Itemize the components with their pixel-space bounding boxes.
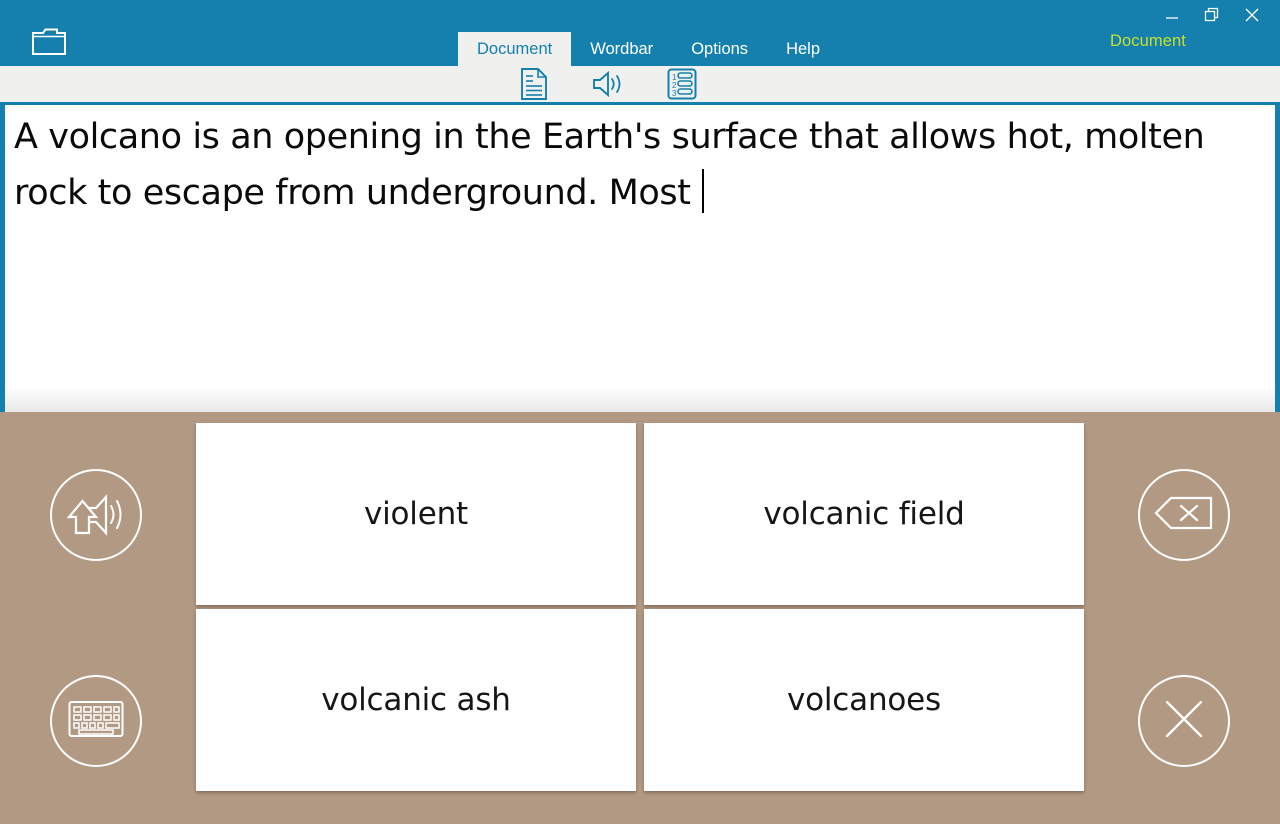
open-file-button[interactable] <box>26 27 72 59</box>
document-icon <box>519 67 549 101</box>
backspace-icon <box>1154 496 1214 535</box>
speaker-icon <box>591 69 625 99</box>
toolbar: 1 2 3 <box>0 66 1280 105</box>
tab-bar: Document Wordbar Options Help <box>458 32 839 66</box>
close-button[interactable] <box>1232 2 1272 32</box>
minimize-button[interactable] <box>1152 2 1192 32</box>
restore-button[interactable] <box>1192 2 1232 32</box>
document-title-label: Document <box>1110 32 1186 51</box>
numbered-list-button[interactable]: 1 2 3 <box>645 66 719 102</box>
editor-text: A volcano is an opening in the Earth's s… <box>14 109 1214 221</box>
numbered-list-icon: 1 2 3 <box>666 67 698 101</box>
tab-document[interactable]: Document <box>458 32 571 66</box>
word-suggestion-grid: violent volcanic field volcanic ash volc… <box>196 423 1084 791</box>
tab-options-label: Options <box>691 40 748 58</box>
tab-options[interactable]: Options <box>672 32 767 66</box>
new-document-button[interactable] <box>497 66 571 102</box>
word-suggestion-card[interactable]: violent <box>196 423 636 605</box>
speaker-up-icon <box>66 489 126 542</box>
minimize-icon <box>1165 8 1179 26</box>
speak-button[interactable] <box>50 469 142 561</box>
restore-icon <box>1204 7 1220 28</box>
svg-text:3: 3 <box>672 89 677 98</box>
close-x-icon <box>1162 697 1206 746</box>
word-suggestion-label: volcanic field <box>763 496 964 532</box>
word-suggestion-label: violent <box>364 496 468 532</box>
word-suggestion-label: volcanoes <box>787 682 941 718</box>
word-suggestion-card[interactable]: volcanic ash <box>196 609 636 791</box>
word-suggestion-label: volcanic ash <box>321 682 511 718</box>
folder-icon <box>27 25 71 62</box>
tab-help[interactable]: Help <box>767 32 839 66</box>
text-caret <box>702 169 704 213</box>
editor-text-content: A volcano is an opening in the Earth's s… <box>14 117 1215 213</box>
keyboard-icon <box>68 699 124 744</box>
clear-button[interactable] <box>1138 675 1230 767</box>
document-editor[interactable]: A volcano is an opening in the Earth's s… <box>0 105 1280 412</box>
toolbar-buttons: 1 2 3 <box>497 66 719 102</box>
title-bar: Document Wordbar Options Help Document <box>0 0 1280 66</box>
tab-help-label: Help <box>786 40 820 58</box>
close-icon <box>1244 7 1260 28</box>
word-suggestion-card[interactable]: volcanic field <box>644 423 1084 605</box>
tab-document-label: Document <box>477 40 552 58</box>
tab-wordbar-label: Wordbar <box>590 40 653 58</box>
window-controls <box>1152 2 1272 32</box>
word-suggestion-card[interactable]: volcanoes <box>644 609 1084 791</box>
keyboard-button[interactable] <box>50 675 142 767</box>
editor-bottom-shadow <box>5 386 1275 412</box>
backspace-button[interactable] <box>1138 469 1230 561</box>
speak-text-button[interactable] <box>571 66 645 102</box>
tab-wordbar[interactable]: Wordbar <box>571 32 672 66</box>
application-window: Document Wordbar Options Help Document <box>0 0 1280 824</box>
